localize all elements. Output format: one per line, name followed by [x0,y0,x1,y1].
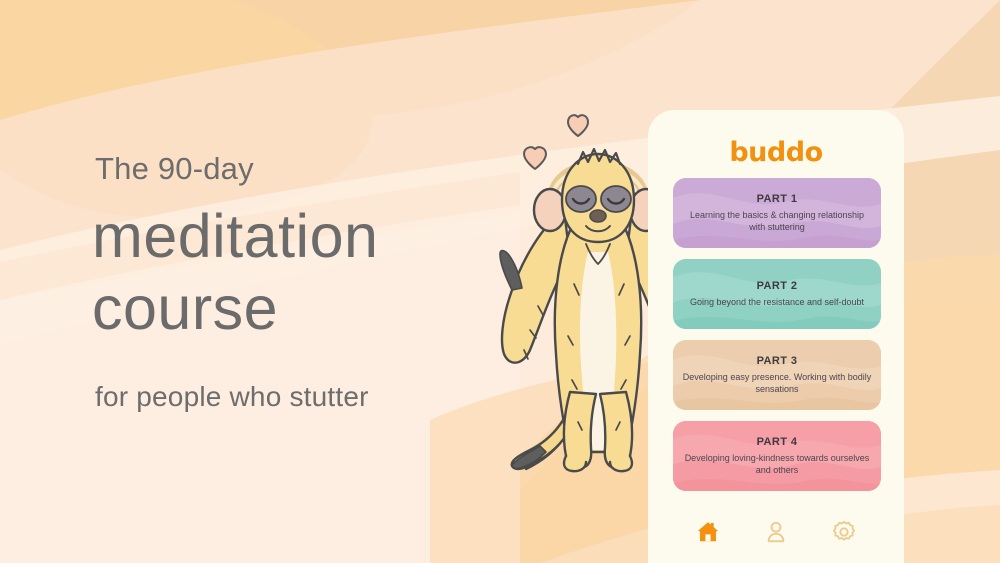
bottom-navigation [648,502,904,562]
nav-item-settings[interactable] [827,515,861,549]
hero-subline: for people who stutter [95,381,369,413]
gear-icon [831,519,857,545]
card-title: PART 4 [757,436,798,448]
home-icon [695,519,721,545]
poster-canvas: The 90-day meditation course for people … [0,0,1000,563]
course-parts-list: PART 1 Learning the basics & changing re… [673,178,881,502]
card-title: PART 1 [757,193,798,205]
app-logo: buddo [648,137,904,168]
nav-item-profile[interactable] [759,515,793,549]
card-title: PART 3 [757,355,798,367]
list-item[interactable]: PART 2 Going beyond the resistance and s… [673,259,881,329]
list-item[interactable]: PART 4 Developing loving-kindness toward… [673,421,881,491]
card-description: Learning the basics & changing relations… [682,209,872,233]
list-item[interactable]: PART 3 Developing easy presence. Working… [673,340,881,410]
nav-item-home[interactable] [691,515,725,549]
hero-eyebrow: The 90-day [95,151,254,187]
card-title: PART 2 [757,280,798,292]
card-description: Going beyond the resistance and self-dou… [690,296,864,308]
user-icon [763,519,789,545]
page-title: meditation course [92,200,378,344]
headline-line-2: course [92,272,378,344]
hero-copy: The 90-day meditation course for people … [0,0,470,563]
card-description: Developing loving-kindness towards ourse… [682,452,872,476]
list-item[interactable]: PART 1 Learning the basics & changing re… [673,178,881,248]
card-description: Developing easy presence. Working with b… [682,371,872,395]
app-phone-frame: buddo PART 1 Learning the basics & chang… [648,110,904,563]
headline-line-1: meditation [92,202,378,270]
